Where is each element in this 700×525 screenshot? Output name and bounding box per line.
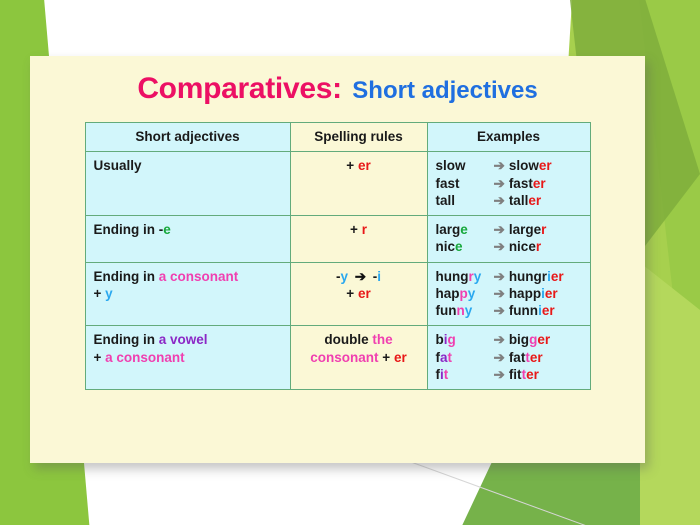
example-base-word: large	[436, 221, 490, 238]
text-run: large	[509, 222, 541, 237]
text-run: er	[358, 286, 371, 301]
arrow-right-icon: ➔	[490, 176, 509, 191]
table-row: Ending in -e+ rlarge➔largernice➔nicer	[85, 216, 590, 263]
cell-examples: large➔largernice➔nicer	[427, 216, 590, 263]
text-run: er	[533, 176, 546, 191]
rule-line: + er	[299, 157, 419, 174]
table-body: Usually+ erslow➔slowerfast➔fastertall➔ta…	[85, 152, 590, 390]
text-run: +	[346, 158, 358, 173]
example-line: big➔bigger	[436, 331, 582, 348]
text-run: Ending in	[94, 269, 159, 284]
cell-short-adjective-rule: Ending in -e	[85, 216, 290, 263]
arrow-right-icon: ➔	[490, 193, 509, 208]
page-title: Comparatives: Short adjectives	[30, 56, 645, 104]
arrow-right-icon: ➔	[490, 350, 509, 365]
cell-examples: big➔biggerfat➔fatterfit➔fitter	[427, 326, 590, 390]
table-header: Short adjectives Spelling rules Examples	[85, 123, 590, 152]
text-run: a consonant	[105, 350, 185, 365]
text-run: t	[444, 367, 449, 382]
comparatives-rules-table: Short adjectives Spelling rules Examples…	[85, 122, 591, 390]
example-base-word: fat	[436, 349, 490, 366]
text-run: er	[537, 332, 550, 347]
example-comparative-word: fatter	[509, 350, 543, 365]
text-run: r	[541, 222, 546, 237]
example-comparative-word: funnier	[509, 303, 555, 318]
column-header-examples: Examples	[427, 123, 590, 152]
text-run: double	[324, 332, 372, 347]
example-comparative-word: happier	[509, 286, 558, 301]
rule-line: Ending in a vowel	[94, 331, 282, 348]
text-run: fast	[436, 176, 460, 191]
text-run: fun	[436, 303, 457, 318]
example-base-word: nice	[436, 238, 490, 255]
rule-line: Ending in -e	[94, 221, 282, 238]
content-card: Comparatives: Short adjectives Short adj…	[30, 56, 645, 463]
text-run: a	[440, 350, 448, 365]
example-base-word: fast	[436, 175, 490, 192]
text-run: nic	[436, 239, 456, 254]
text-run: +	[94, 350, 106, 365]
example-line: fast➔faster	[436, 175, 582, 192]
example-line: large➔larger	[436, 221, 582, 238]
text-run: er	[358, 158, 371, 173]
text-run: slow	[436, 158, 466, 173]
cell-spelling-rule: -y ➔ -i+ er	[290, 262, 427, 326]
example-line: tall➔taller	[436, 192, 582, 209]
text-run: nice	[509, 239, 536, 254]
text-run: tall	[509, 193, 529, 208]
example-comparative-word: faster	[509, 176, 546, 191]
text-run: r	[362, 222, 367, 237]
example-line: nice➔nicer	[436, 238, 582, 255]
cell-short-adjective-rule: Ending in a vowel+ a consonant	[85, 326, 290, 390]
example-comparative-word: taller	[509, 193, 541, 208]
text-run: consonant	[310, 350, 378, 365]
text-run: larg	[436, 222, 461, 237]
text-run: er	[542, 303, 555, 318]
arrow-right-icon: ➔	[490, 286, 509, 301]
text-run: er	[528, 193, 541, 208]
example-line: slow➔slower	[436, 157, 582, 174]
text-run: a vowel	[159, 332, 208, 347]
text-run: e	[460, 222, 468, 237]
text-run: i	[377, 269, 381, 284]
text-run: er	[530, 350, 543, 365]
slide-canvas: Comparatives: Short adjectives Short adj…	[0, 0, 700, 525]
arrow-right-icon: ➔	[490, 239, 509, 254]
example-line: fit➔fitter	[436, 366, 582, 383]
rule-line: Usually	[94, 157, 282, 174]
text-run: +	[94, 286, 106, 301]
cell-examples: slow➔slowerfast➔fastertall➔taller	[427, 152, 590, 216]
rule-line: double the	[299, 331, 419, 348]
text-run: y	[340, 269, 348, 284]
table-row: Ending in a consonant+ y-y ➔ -i+ erhungr…	[85, 262, 590, 326]
text-run: y	[465, 303, 473, 318]
arrow-right-icon: ➔	[490, 367, 509, 382]
table-row: Usually+ erslow➔slowerfast➔fastertall➔ta…	[85, 152, 590, 216]
example-base-word: hungry	[436, 268, 490, 285]
text-run: er	[545, 286, 558, 301]
example-line: happy➔happier	[436, 285, 582, 302]
example-base-word: fit	[436, 366, 490, 383]
rule-line: + er	[299, 285, 419, 302]
rule-line: + a consonant	[94, 349, 282, 366]
cell-short-adjective-rule: Ending in a consonant+ y	[85, 262, 290, 326]
text-run: er	[551, 269, 564, 284]
text-run: e	[455, 239, 463, 254]
text-run: er	[526, 367, 539, 382]
text-run: er	[539, 158, 552, 173]
column-header-short-adjectives: Short adjectives	[85, 123, 290, 152]
rule-line: + r	[299, 221, 419, 238]
example-comparative-word: larger	[509, 222, 547, 237]
text-run: fast	[509, 176, 533, 191]
example-base-word: big	[436, 331, 490, 348]
text-run: the	[372, 332, 392, 347]
cell-spelling-rule: double theconsonant + er	[290, 326, 427, 390]
text-run: +	[350, 222, 362, 237]
text-run: ➔	[348, 269, 373, 284]
text-run: slow	[509, 158, 539, 173]
text-run: y	[105, 286, 113, 301]
example-line: hungry➔hungrier	[436, 268, 582, 285]
cell-spelling-rule: + er	[290, 152, 427, 216]
example-comparative-word: nicer	[509, 239, 541, 254]
text-run: er	[394, 350, 407, 365]
text-run: e	[163, 222, 171, 237]
example-base-word: tall	[436, 192, 490, 209]
text-run: fat	[509, 350, 526, 365]
cell-examples: hungry➔hungrierhappy➔happierfunny➔funnie…	[427, 262, 590, 326]
cell-short-adjective-rule: Usually	[85, 152, 290, 216]
column-header-spelling-rules: Spelling rules	[290, 123, 427, 152]
text-run: g	[448, 332, 456, 347]
text-run: b	[436, 332, 444, 347]
text-run: a consonant	[159, 269, 239, 284]
text-run: t	[448, 350, 453, 365]
example-comparative-word: fitter	[509, 367, 539, 382]
text-run: funn	[509, 303, 538, 318]
text-run: hungr	[509, 269, 547, 284]
arrow-right-icon: ➔	[490, 158, 509, 173]
text-run: hung	[436, 269, 469, 284]
example-base-word: happy	[436, 285, 490, 302]
text-run: +	[346, 286, 358, 301]
text-run: big	[509, 332, 529, 347]
example-line: fat➔fatter	[436, 349, 582, 366]
rule-line: Ending in a consonant	[94, 268, 282, 285]
text-run: tall	[436, 193, 456, 208]
text-run: Ending in -	[94, 222, 164, 237]
text-run: y	[468, 286, 476, 301]
text-run: happ	[509, 286, 541, 301]
arrow-right-icon: ➔	[490, 303, 509, 318]
example-comparative-word: slower	[509, 158, 552, 173]
text-run: r	[536, 239, 541, 254]
example-line: funny➔funnier	[436, 302, 582, 319]
text-run: n	[457, 303, 465, 318]
example-comparative-word: hungrier	[509, 269, 564, 284]
text-run: p	[460, 286, 468, 301]
arrow-right-icon: ➔	[490, 222, 509, 237]
page-title-main: Comparatives:	[137, 72, 342, 105]
arrow-right-icon: ➔	[490, 269, 509, 284]
text-run: Ending in	[94, 332, 159, 347]
table-header-row: Short adjectives Spelling rules Examples	[85, 123, 590, 152]
table-row: Ending in a vowel+ a consonantdouble the…	[85, 326, 590, 390]
example-base-word: funny	[436, 302, 490, 319]
page-title-sub: Short adjectives	[352, 77, 537, 104]
rule-line: consonant + er	[299, 349, 419, 366]
arrow-right-icon: ➔	[490, 332, 509, 347]
example-comparative-word: bigger	[509, 332, 550, 347]
example-base-word: slow	[436, 157, 490, 174]
rule-line: -y ➔ -i	[299, 268, 419, 285]
text-run: hap	[436, 286, 460, 301]
text-run: y	[474, 269, 482, 284]
rule-line: + y	[94, 285, 282, 302]
cell-spelling-rule: + r	[290, 216, 427, 263]
text-run: +	[379, 350, 394, 365]
text-run: fit	[509, 367, 522, 382]
text-run: Usually	[94, 158, 142, 173]
